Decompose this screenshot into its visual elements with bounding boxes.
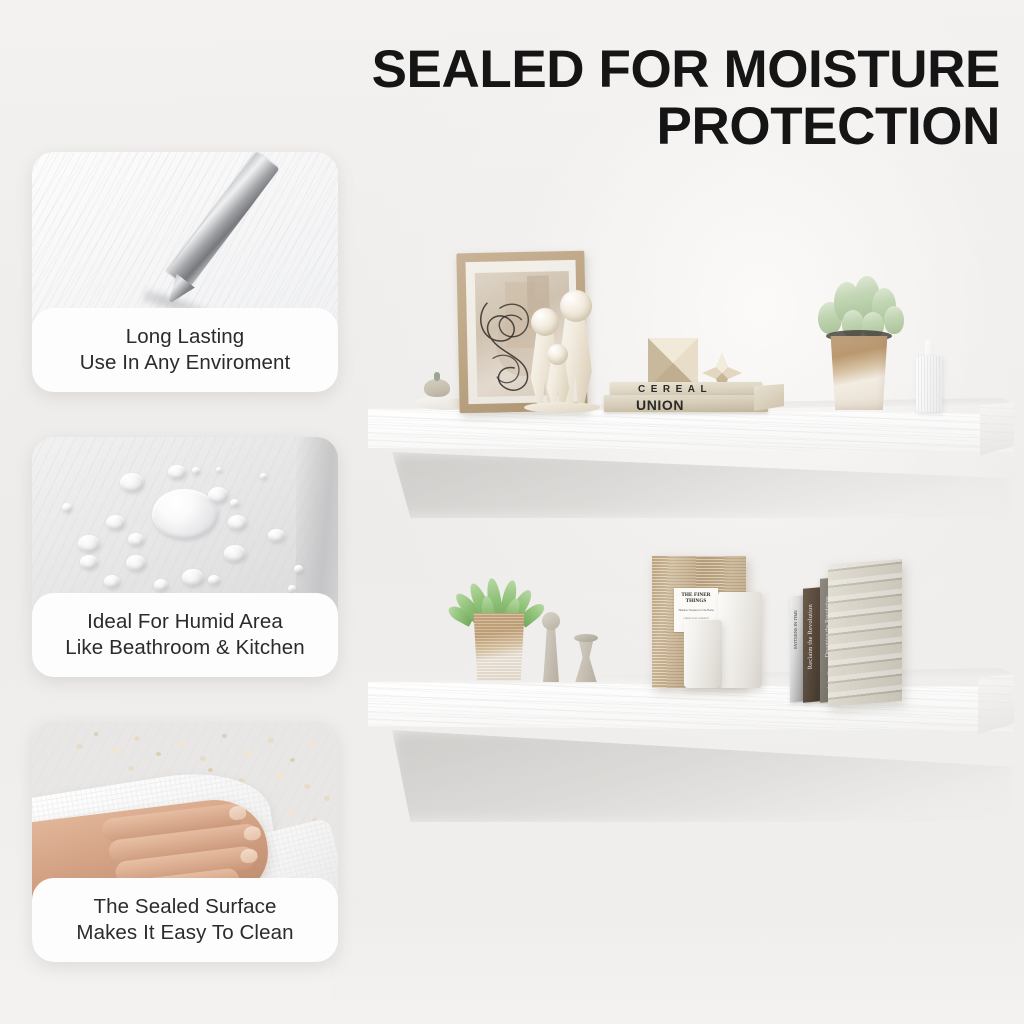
water-droplet bbox=[260, 473, 267, 479]
crumb bbox=[134, 736, 140, 741]
succulent-planter bbox=[826, 336, 892, 410]
crumb bbox=[276, 772, 285, 779]
fingernail-ring bbox=[240, 848, 259, 864]
headline-line-2: PROTECTION bbox=[300, 99, 1000, 156]
water-droplet bbox=[192, 467, 200, 474]
feature-card-water-resistance[interactable]: Ideal For Humid Area Like Beathroom & Ki… bbox=[32, 437, 338, 677]
durability-caption: Long Lasting Use In Any Enviroment bbox=[32, 308, 338, 392]
water-resistance-caption: Ideal For Humid Area Like Beathroom & Ki… bbox=[32, 593, 338, 677]
figurine-child-head bbox=[547, 344, 568, 365]
book-subtitle: Timeless Treasures for the Home bbox=[678, 609, 714, 613]
water-droplet bbox=[104, 575, 120, 588]
lower-shelf-front-face bbox=[368, 682, 1014, 738]
cylinder-vase-short bbox=[684, 620, 722, 688]
caption-line-1: Long Lasting bbox=[126, 324, 245, 350]
water-droplet bbox=[224, 545, 246, 562]
water-droplet bbox=[216, 467, 222, 472]
water-droplet bbox=[208, 487, 228, 503]
crumb bbox=[324, 796, 330, 801]
crumb bbox=[76, 744, 83, 749]
caption-line-2: Like Beathroom & Kitchen bbox=[65, 635, 304, 661]
book-spine-2: Reclaim the Revolution bbox=[803, 587, 820, 702]
water-droplet bbox=[268, 529, 285, 542]
page-title: SEALED FOR MOISTURE PROTECTION bbox=[300, 42, 1000, 155]
water-droplet bbox=[128, 533, 144, 546]
book-title-cereal: CEREAL bbox=[638, 384, 712, 395]
crumb bbox=[286, 810, 294, 816]
water-droplet bbox=[80, 555, 98, 569]
water-droplet bbox=[294, 565, 303, 573]
caption-line-1: The Sealed Surface bbox=[94, 894, 277, 920]
crumb bbox=[60, 734, 65, 738]
easy-clean-caption: The Sealed Surface Makes It Easy To Clea… bbox=[32, 878, 338, 962]
feature-card-easy-clean[interactable]: The Sealed Surface Makes It Easy To Clea… bbox=[32, 722, 338, 962]
woodgrain-texture-fine bbox=[368, 682, 1014, 738]
figurine-family bbox=[518, 284, 600, 412]
water-droplet bbox=[230, 499, 239, 507]
crumb bbox=[222, 734, 227, 738]
candlestick-tall-knob bbox=[542, 612, 560, 630]
water-droplet bbox=[288, 585, 296, 592]
book-page-edges bbox=[828, 559, 902, 707]
crumb bbox=[112, 748, 121, 754]
crumb bbox=[178, 740, 186, 746]
fingernail-index bbox=[228, 805, 247, 821]
fingernail-middle bbox=[243, 825, 262, 841]
crumb bbox=[268, 738, 274, 743]
woven-planter-texture bbox=[468, 613, 530, 681]
water-droplet bbox=[208, 575, 220, 585]
geometric-star-object-large bbox=[648, 338, 698, 388]
crumb bbox=[304, 784, 310, 789]
crumb bbox=[290, 758, 295, 762]
succulent-rosette-5 bbox=[884, 306, 904, 334]
crumb bbox=[308, 742, 315, 748]
crumb bbox=[156, 752, 161, 756]
water-droplet bbox=[120, 473, 144, 492]
star-cube-icon bbox=[648, 338, 698, 388]
figurine-base bbox=[524, 402, 600, 413]
caption-line-2: Makes It Easy To Clean bbox=[76, 920, 293, 946]
water-droplet bbox=[182, 569, 204, 586]
crumb bbox=[208, 768, 213, 772]
upper-shelf-front-face bbox=[368, 409, 1014, 459]
feature-card-durability[interactable]: Long Lasting Use In Any Enviroment bbox=[32, 152, 338, 392]
water-droplet bbox=[168, 465, 186, 479]
candlestick-short-cup bbox=[574, 634, 598, 642]
succulent-plant bbox=[812, 272, 908, 342]
ribbed-bottle-vase bbox=[916, 356, 942, 412]
infographic-canvas: SEALED FOR MOISTURE PROTECTION bbox=[0, 0, 1024, 1024]
caption-line-1: Ideal For Humid Area bbox=[87, 609, 283, 635]
small-ribbed-pumpkin-object bbox=[424, 379, 450, 397]
crumb bbox=[94, 732, 98, 736]
water-droplet bbox=[62, 503, 72, 512]
woven-planter bbox=[468, 613, 530, 681]
water-droplet bbox=[154, 579, 168, 591]
crumb bbox=[200, 756, 206, 761]
crumb bbox=[244, 750, 253, 757]
vase-rib-texture bbox=[916, 356, 942, 412]
linen-bound-book bbox=[828, 559, 902, 707]
book-title-union: UNION bbox=[636, 397, 684, 413]
pumpkin-stem-icon bbox=[434, 372, 440, 381]
book-spine-2-text: Reclaim the Revolution bbox=[807, 604, 814, 670]
book-title: THE FINER THINGS bbox=[674, 592, 718, 605]
book-spine-1: PATTERNS IN TIME bbox=[790, 595, 803, 702]
figurine-adult-left-head bbox=[531, 308, 559, 336]
figurine-adult-right-head bbox=[560, 290, 592, 322]
book-stack: CEREAL UNION bbox=[604, 382, 770, 414]
water-droplet bbox=[228, 515, 247, 530]
book-spine-1-text: PATTERNS IN TIME bbox=[793, 610, 798, 649]
cylinder-vase-tall bbox=[718, 592, 762, 688]
woodgrain-texture-fine bbox=[368, 409, 1014, 459]
water-droplet bbox=[78, 535, 100, 552]
caption-line-2: Use In Any Enviroment bbox=[80, 350, 291, 376]
water-droplet bbox=[106, 515, 125, 530]
crumb bbox=[128, 766, 134, 771]
water-droplet bbox=[126, 555, 146, 571]
book-union bbox=[604, 395, 768, 412]
headline-line-1: SEALED FOR MOISTURE bbox=[372, 40, 1000, 99]
